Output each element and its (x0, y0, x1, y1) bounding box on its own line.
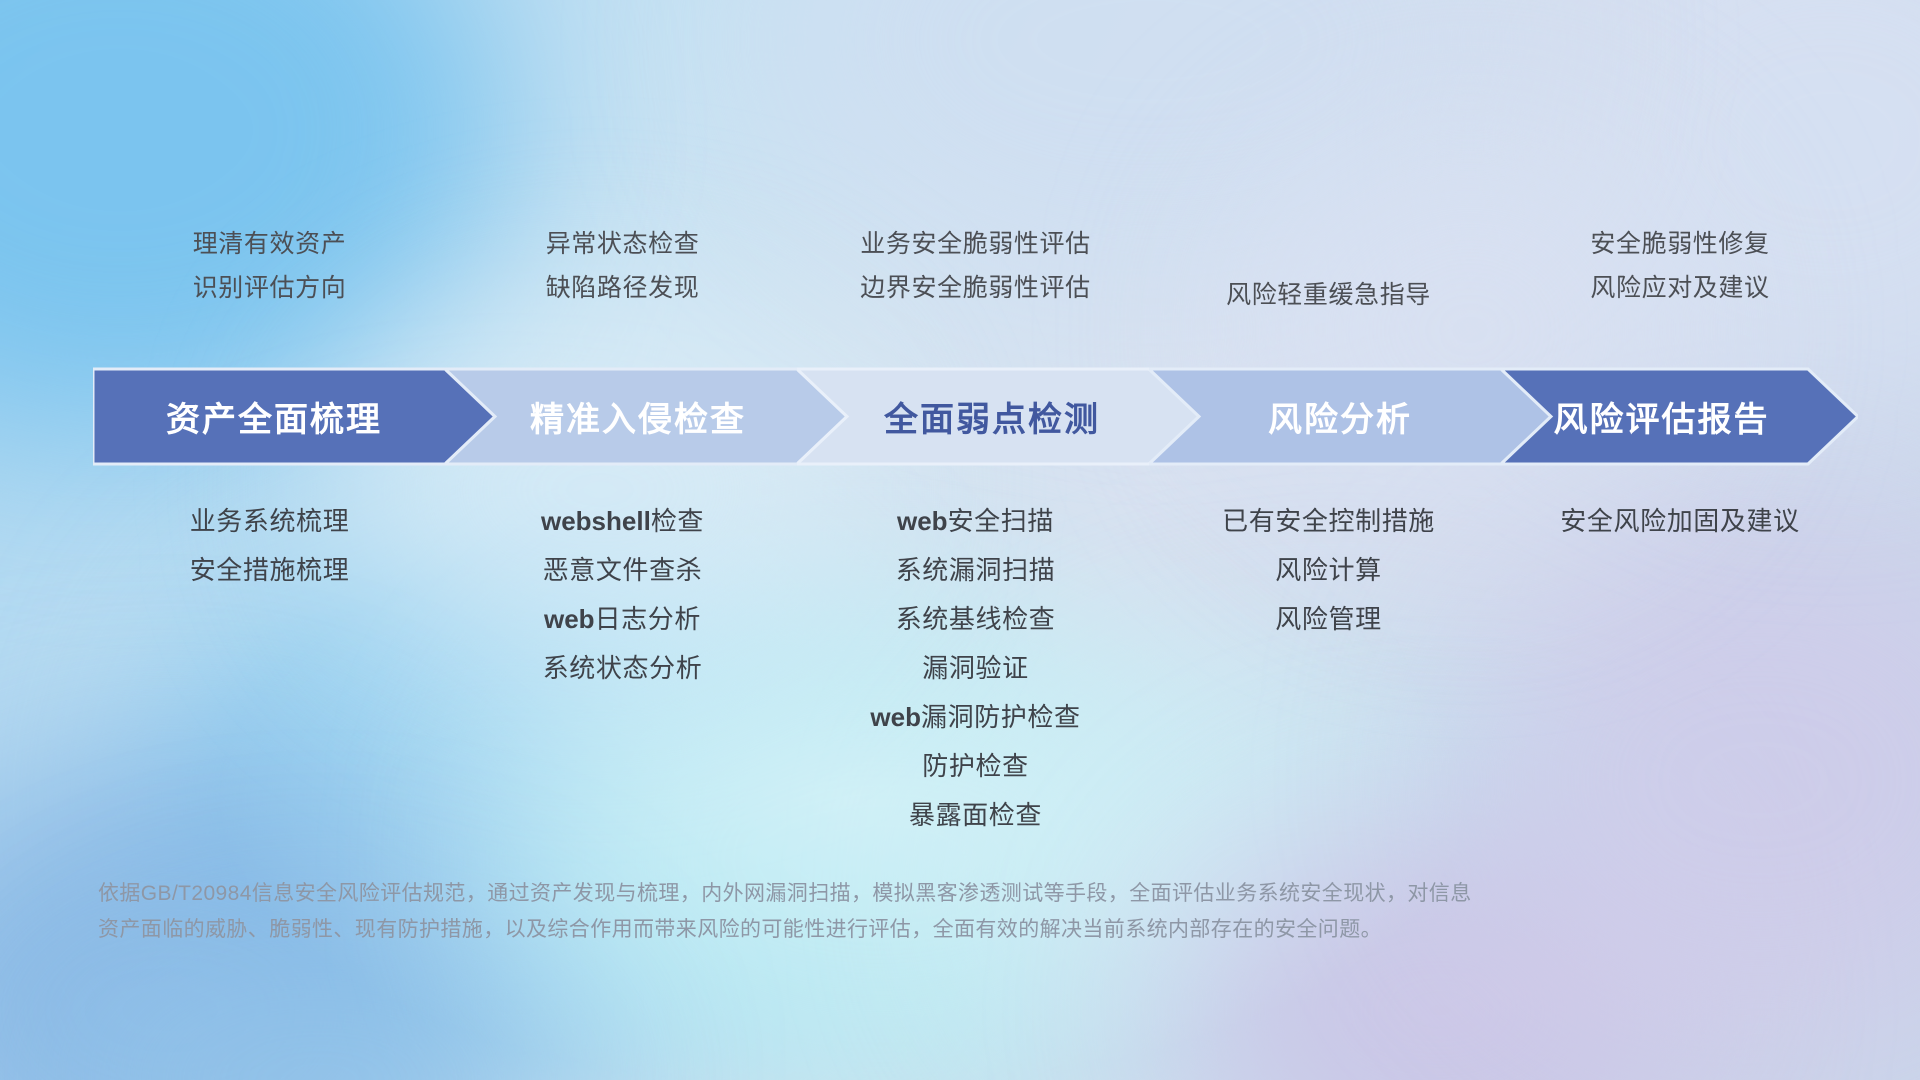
activity-item: 安全措施梳理 (190, 554, 350, 587)
stage-activities-asset-inventory: 业务系统梳理 安全措施梳理 (93, 505, 446, 832)
activity-item: 已有安全控制措施 (1222, 505, 1435, 538)
footer-description: 依据GB/T20984信息安全风险评估规范，通过资产发现与梳理，内外网漏洞扫描，… (98, 876, 1618, 948)
outcome-note: 理清有效资产 (193, 228, 347, 260)
activity-item: webshell检查 (541, 505, 704, 538)
activity-item: web安全扫描 (897, 505, 1054, 538)
activity-item: 安全风险加固及建议 (1560, 505, 1799, 538)
chevron-stage-assessment-report[interactable]: 风险评估报告 (1501, 367, 1858, 466)
activity-item: 系统漏洞扫描 (896, 554, 1056, 587)
stage-activities-weakness-detection: web安全扫描 系统漏洞扫描 系统基线检查 漏洞验证 web漏洞防护检查 防护检… (799, 505, 1152, 832)
activity-item: 风险计算 (1275, 554, 1381, 587)
chevron-stage-risk-analysis[interactable]: 风险分析 (1149, 367, 1551, 466)
outcome-note: 业务安全脆弱性评估 (860, 228, 1090, 260)
outcome-note: 风险轻重缓急指导 (1226, 279, 1431, 311)
stage-outcomes-assessment-report: 安全脆弱性修复 风险应对及建议 (1505, 228, 1855, 340)
stage-activities-intrusion-check: webshell检查 恶意文件查杀 web日志分析 系统状态分析 (446, 505, 799, 832)
stage-outcomes-intrusion-check: 异常状态检查 缺陷路径发现 (446, 228, 799, 340)
footer-line-2: 资产面临的威胁、脆弱性、现有防护措施，以及综合作用而带来风险的可能性进行评估，全… (98, 912, 1618, 948)
activity-item: web漏洞防护检查 (870, 701, 1080, 734)
activity-item: 系统状态分析 (543, 652, 703, 685)
slide-content: 理清有效资产 识别评估方向 异常状态检查 缺陷路径发现 业务安全脆弱性评估 边界… (0, 0, 1920, 1080)
stage-activities-row: 业务系统梳理 安全措施梳理 webshell检查 恶意文件查杀 web日志分析 … (93, 505, 1855, 832)
outcome-note: 风险应对及建议 (1590, 272, 1769, 304)
activity-item: 业务系统梳理 (190, 505, 350, 538)
process-chevron-banner: 资产全面梳理 精准入侵检查 全面弱点检测 (93, 367, 1858, 466)
activity-item: 暴露面检查 (909, 799, 1042, 832)
chevron-label: 精准入侵检查 (530, 392, 746, 441)
outcome-note: 异常状态检查 (546, 228, 700, 260)
chevron-label: 资产全面梳理 (166, 392, 382, 441)
chevron-stage-asset-inventory[interactable]: 资产全面梳理 (93, 367, 495, 466)
footer-line-1: 依据GB/T20984信息安全风险评估规范，通过资产发现与梳理，内外网漏洞扫描，… (98, 876, 1618, 912)
outcome-note: 安全脆弱性修复 (1590, 228, 1769, 260)
activity-item: web日志分析 (544, 603, 701, 636)
stage-activities-risk-analysis: 已有安全控制措施 风险计算 风险管理 (1152, 505, 1505, 832)
chevron-label: 风险评估报告 (1554, 392, 1770, 441)
outcome-note: 边界安全脆弱性评估 (860, 272, 1090, 304)
stage-activities-assessment-report: 安全风险加固及建议 (1505, 505, 1855, 832)
stage-outcomes-row: 理清有效资产 识别评估方向 异常状态检查 缺陷路径发现 业务安全脆弱性评估 边界… (93, 228, 1855, 340)
chevron-label: 全面弱点检测 (884, 392, 1100, 441)
stage-outcomes-risk-analysis: 风险轻重缓急指导 (1152, 228, 1505, 340)
outcome-note: 缺陷路径发现 (546, 272, 700, 304)
stage-outcomes-weakness-detection: 业务安全脆弱性评估 边界安全脆弱性评估 (799, 228, 1152, 340)
activity-item: 恶意文件查杀 (543, 554, 703, 587)
chevron-stage-intrusion-check[interactable]: 精准入侵检查 (445, 367, 847, 466)
chevron-label: 风险分析 (1268, 392, 1412, 441)
activity-item: 防护检查 (922, 750, 1028, 783)
outcome-note: 识别评估方向 (193, 272, 347, 304)
activity-item: 系统基线检查 (896, 603, 1056, 636)
activity-item: 风险管理 (1275, 603, 1381, 636)
stage-outcomes-asset-inventory: 理清有效资产 识别评估方向 (93, 228, 446, 340)
slide-canvas: 理清有效资产 识别评估方向 异常状态检查 缺陷路径发现 业务安全脆弱性评估 边界… (0, 0, 1920, 1080)
chevron-stage-weakness-detection[interactable]: 全面弱点检测 (797, 367, 1199, 466)
activity-item: 漏洞验证 (922, 652, 1028, 685)
